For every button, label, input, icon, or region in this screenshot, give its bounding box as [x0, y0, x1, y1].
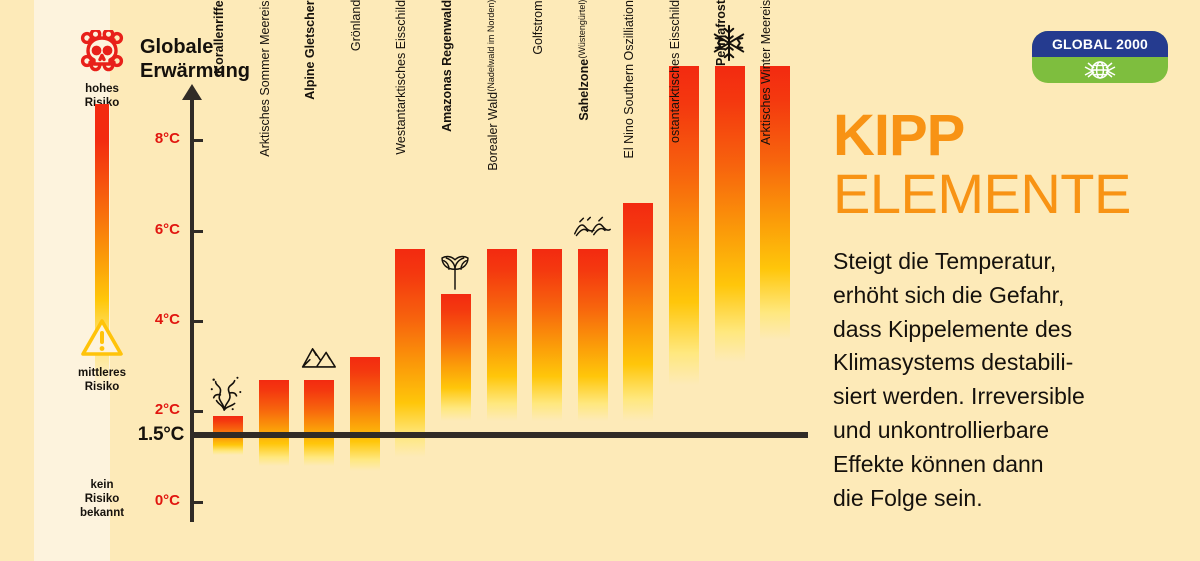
headline-elemente: ELEMENTE: [833, 166, 1131, 222]
bar-label-5: Westantarktisches Eisschild: [394, 0, 408, 241]
bar-9: [578, 249, 608, 421]
dune-icon: [573, 207, 611, 245]
bar-10: [623, 203, 653, 420]
glacier-icon-holder: [299, 338, 337, 376]
bar-label-6: Amazonas Regenwald: [440, 0, 454, 250]
bar-label-10: El Nino Southern Oszilliation: [622, 0, 636, 195]
bar-3: [304, 380, 334, 466]
bar-label-12: Permafrost: [714, 0, 728, 22]
bar-label-main: Borealer Wald: [486, 92, 500, 171]
headline-kipp: KIPP: [833, 108, 964, 165]
global-2000-logo[interactable]: GLOBAL 2000: [1032, 31, 1168, 83]
leaf-icon-holder: [436, 252, 474, 290]
bar-label-main: Sahelzone: [577, 59, 591, 121]
threshold-line-1-5c: [190, 432, 808, 438]
snowflake-icon-holder: [710, 24, 748, 62]
dune-icon-holder: [573, 207, 611, 245]
bar-label-13: Arktisches Winter Meereis: [759, 0, 773, 58]
globe-net-icon: [1083, 58, 1117, 82]
bar-label-11: ostantarktisches Eisschild: [668, 0, 682, 58]
bar-2: [259, 380, 289, 466]
bar-4: [350, 357, 380, 470]
bar-12: [715, 66, 745, 362]
logo-text: GLOBAL 2000: [1032, 31, 1168, 57]
threshold-label: 1.5°C: [118, 424, 184, 446]
bar-7: [487, 249, 517, 421]
bar-label-1: Korallenriffe: [212, 0, 226, 372]
bar-label-4: Grönland: [349, 0, 363, 349]
coral-icon-holder: [208, 374, 246, 412]
bar-label-2: Arktisches Sommer Meereis: [258, 0, 272, 372]
snowflake-icon: [710, 24, 748, 62]
body-paragraph: Steigt die Temperatur, erhöht sich die G…: [833, 245, 1185, 515]
infographic-root: hohes Risiko mittleres Risiko kein Risik…: [0, 0, 1200, 561]
bar-label-sub: (Wüstengürtel): [577, 0, 587, 59]
bar-8: [532, 249, 562, 421]
bar-label-9: Sahelzone (Wüstengürtel): [577, 0, 591, 205]
bar-5: [395, 249, 425, 457]
bar-label-sub: (Nadelwald im Norden): [486, 0, 496, 92]
glacier-icon: [299, 338, 337, 376]
coral-icon: [208, 374, 246, 412]
bar-6: [441, 294, 471, 421]
bar-label-7: Borealer Wald (Nadelwald im Norden): [486, 0, 500, 241]
leaf-icon: [436, 252, 474, 290]
bar-label-8: Golfstrom: [531, 0, 545, 241]
bar-label-3: Alpine Gletscher: [303, 0, 317, 336]
